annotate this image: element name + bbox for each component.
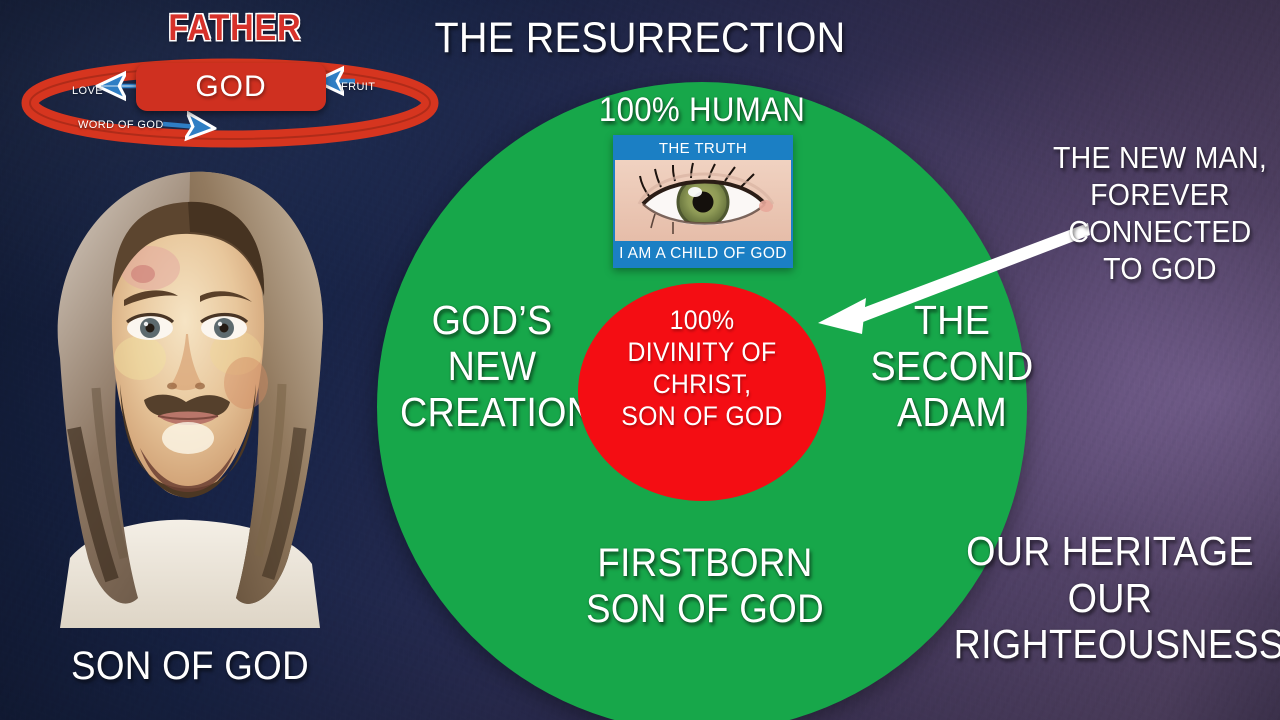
page-title: THE RESURRECTION — [51, 16, 1229, 62]
god-label: GOD — [136, 70, 326, 104]
loop-label-fruit: FRUIT — [341, 81, 375, 93]
jesus-portrait-image — [0, 128, 370, 648]
portrait-caption: SON OF GOD — [43, 645, 337, 687]
label-firstborn-son-of-god: FIRSTBORN SON OF GOD — [489, 540, 921, 633]
label-gods-new-creation: GOD’S NEW CREATION — [400, 298, 584, 436]
truth-card-header: THE TRUTH — [613, 138, 793, 160]
annotation-our-heritage: OUR HERITAGE OUR RIGHTEOUSNESS — [954, 528, 1267, 668]
slide-canvas: FATHER GOD LOVE FRUIT WORD OF GOD — [0, 0, 1280, 720]
loop-label-love: LOVE — [72, 85, 103, 97]
label-divinity-of-christ: 100% DIVINITY OF CHRIST, SON OF GOD — [588, 305, 816, 432]
eye-photo-image — [615, 160, 791, 241]
label-100-percent-human: 100% HUMAN — [403, 92, 1001, 128]
annotation-the-new-man: THE NEW MAN, FOREVER CONNECTED TO GOD — [1050, 140, 1271, 288]
pointer-arrow-icon — [800, 215, 1090, 345]
truth-card-footer: I AM A CHILD OF GOD — [613, 242, 793, 266]
the-truth-card: THE TRUTH — [613, 135, 793, 268]
